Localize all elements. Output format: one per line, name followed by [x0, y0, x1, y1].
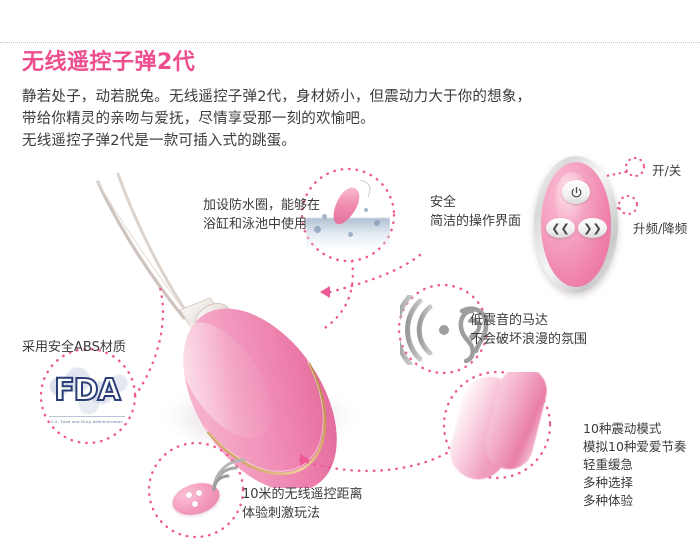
water-droplet: [322, 214, 327, 219]
feature-safety-text: 安全 简洁的操作界面: [430, 193, 521, 231]
modes-line-5: 多种体验: [583, 492, 686, 510]
dotted-dot-frequency: [619, 196, 637, 214]
product-feature-page: 无线遥控子弹2代 静若处子，动若脱兔。无线遥控子弹2代，身材娇小，但震动力大于你…: [0, 0, 700, 559]
callout-power-label: 开/关: [652, 160, 681, 179]
fda-badge: FDA U.S. Food and Drug Administration: [37, 360, 137, 446]
fda-logo-text: FDA: [44, 373, 130, 408]
fda-divider: [49, 416, 125, 417]
power-icon: [570, 186, 583, 199]
callout-frequency-label: 升频/降频: [633, 218, 687, 237]
dotted-dot-onoff: [626, 158, 644, 176]
feature-motor-text: 低震音的马达 不会破坏浪漫的氛围: [470, 311, 587, 349]
page-title: 无线遥控子弹2代: [22, 50, 195, 76]
motor-line-2: 不会破坏浪漫的氛围: [470, 330, 587, 349]
top-dotted-divider: [0, 42, 700, 44]
modes-line-2: 模拟10种爱爱节奏: [583, 438, 686, 456]
distance-line-1: 10米的无线遥控距离: [242, 485, 363, 504]
intro-line-1: 静若处子，动若脱兔。无线遥控子弹2代，身材娇小，但震动力大于你的想象，: [22, 86, 682, 108]
intro-paragraph: 静若处子，动若脱兔。无线遥控子弹2代，身材娇小，但震动力大于你的想象， 带给你精…: [22, 86, 682, 152]
safety-line-1: 安全: [430, 193, 521, 212]
mini-remote-button: [196, 490, 202, 496]
intro-line-3: 无线遥控子弹2代是一款可插入式的跳蛋。: [22, 130, 682, 152]
fda-logo-subtext: U.S. Food and Drug Administration: [37, 420, 137, 424]
mini-remote-button: [192, 501, 198, 507]
modes-line-3: 轻重缓急: [583, 456, 686, 474]
motor-line-1: 低震音的马达: [470, 311, 587, 330]
water-droplet: [348, 232, 353, 237]
feature-waterproof-text: 加设防水圈，能够在 浴缸和泳池中使用: [203, 196, 320, 234]
safety-line-2: 简洁的操作界面: [430, 212, 521, 231]
mini-remote-button: [186, 492, 192, 498]
waterproof-line-1: 加设防水圈，能够在: [203, 196, 320, 215]
water-droplet: [364, 208, 368, 212]
intro-line-2: 带给你精灵的亲吻与爱抚，尽情享受那一刻的欢愉吧。: [22, 108, 682, 130]
feature-modes-text: 10种震动模式 模拟10种爱爱节奏 轻重缓急 多种选择 多种体验: [583, 420, 686, 510]
modes-line-4: 多种选择: [583, 474, 686, 492]
frequency-up-button[interactable]: ❯❯: [578, 218, 607, 238]
waterproof-line-2: 浴缸和泳池中使用: [203, 215, 320, 234]
frequency-down-button[interactable]: ❮❮: [546, 218, 575, 238]
distance-line-2: 体验刺激玩法: [242, 504, 363, 523]
modes-line-1: 10种震动模式: [583, 420, 686, 438]
water-droplet: [374, 220, 380, 226]
feature-distance-text: 10米的无线遥控距离 体验刺激玩法: [242, 485, 363, 523]
remote-control: ❮❮ ❯❯: [534, 156, 618, 293]
closeup-thumbnail: [440, 372, 556, 482]
feature-material-label: 采用安全ABS材质: [22, 338, 126, 357]
power-button[interactable]: [562, 180, 590, 204]
